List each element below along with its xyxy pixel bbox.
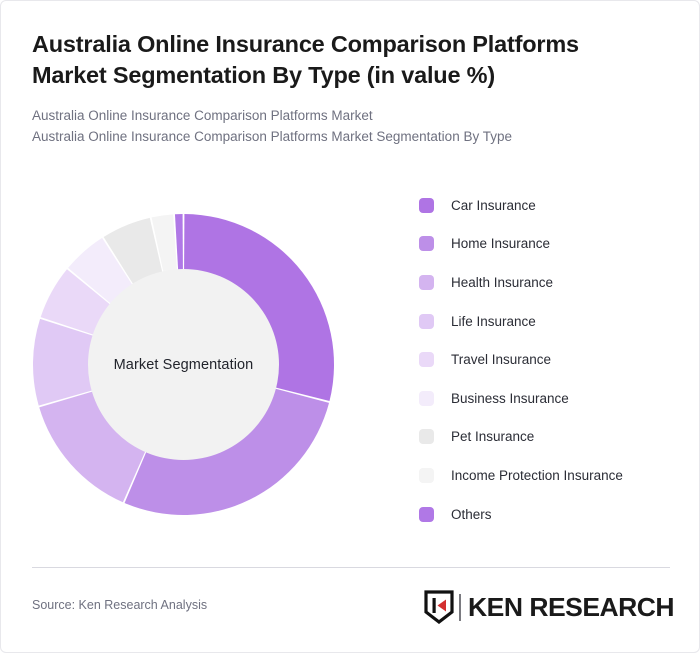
legend-item[interactable]: Travel Insurance [419, 340, 687, 379]
legend-item[interactable]: Health Insurance [419, 263, 687, 302]
legend-item-label: Health Insurance [451, 275, 553, 290]
legend-swatch-icon [419, 352, 434, 367]
chart-footer: Source: Ken Research Analysis KEN RESEAR… [32, 587, 670, 627]
source-note: Source: Ken Research Analysis [32, 598, 207, 612]
legend-item-label: Car Insurance [451, 198, 536, 213]
legend-item-label: Business Insurance [451, 391, 569, 406]
logo-k-stem [432, 598, 435, 613]
donut-svg [33, 214, 334, 515]
footer-divider [32, 567, 670, 568]
legend-item[interactable]: Business Insurance [419, 379, 687, 418]
logo-separator [459, 594, 461, 621]
donut-chart: Market Segmentation [33, 214, 334, 515]
chart-page: Australia Online Insurance Comparison Pl… [0, 0, 700, 653]
legend-item[interactable]: Pet Insurance [419, 418, 687, 457]
subtitle-line-2: Australia Online Insurance Comparison Pl… [32, 127, 652, 148]
legend-swatch-icon [419, 507, 434, 522]
legend-swatch-icon [419, 314, 434, 329]
legend-item[interactable]: Home Insurance [419, 225, 687, 264]
legend-item-label: Home Insurance [451, 236, 550, 251]
subtitle-block: Australia Online Insurance Comparison Pl… [32, 106, 652, 147]
ken-research-logo-mark [424, 590, 454, 624]
legend-item[interactable]: Others [419, 495, 687, 534]
chart-header: Australia Online Insurance Comparison Pl… [32, 29, 652, 147]
legend-swatch-icon [419, 198, 434, 213]
page-title: Australia Online Insurance Comparison Pl… [32, 29, 652, 90]
legend-swatch-icon [419, 236, 434, 251]
legend-item-label: Income Protection Insurance [451, 468, 623, 483]
legend-swatch-icon [419, 468, 434, 483]
legend-swatch-icon [419, 429, 434, 444]
legend-item[interactable]: Life Insurance [419, 302, 687, 341]
legend-swatch-icon [419, 275, 434, 290]
legend-swatch-icon [419, 391, 434, 406]
legend-item-label: Others [451, 507, 492, 522]
ken-research-logo: KEN RESEARCH [424, 587, 670, 627]
subtitle-line-1: Australia Online Insurance Comparison Pl… [32, 106, 652, 127]
legend-item-label: Pet Insurance [451, 429, 534, 444]
legend-item-label: Travel Insurance [451, 352, 551, 367]
chart-legend: Car InsuranceHome InsuranceHealth Insura… [419, 186, 687, 533]
chart-area: Market Segmentation Car InsuranceHome In… [1, 186, 700, 546]
logo-red-triangle-icon [437, 600, 446, 612]
legend-item[interactable]: Car Insurance [419, 186, 687, 225]
logo-wordmark: KEN RESEARCH [468, 594, 674, 620]
logo-shield-icon [426, 592, 452, 622]
legend-item-label: Life Insurance [451, 314, 536, 329]
legend-item[interactable]: Income Protection Insurance [419, 456, 687, 495]
donut-hole [88, 269, 279, 460]
